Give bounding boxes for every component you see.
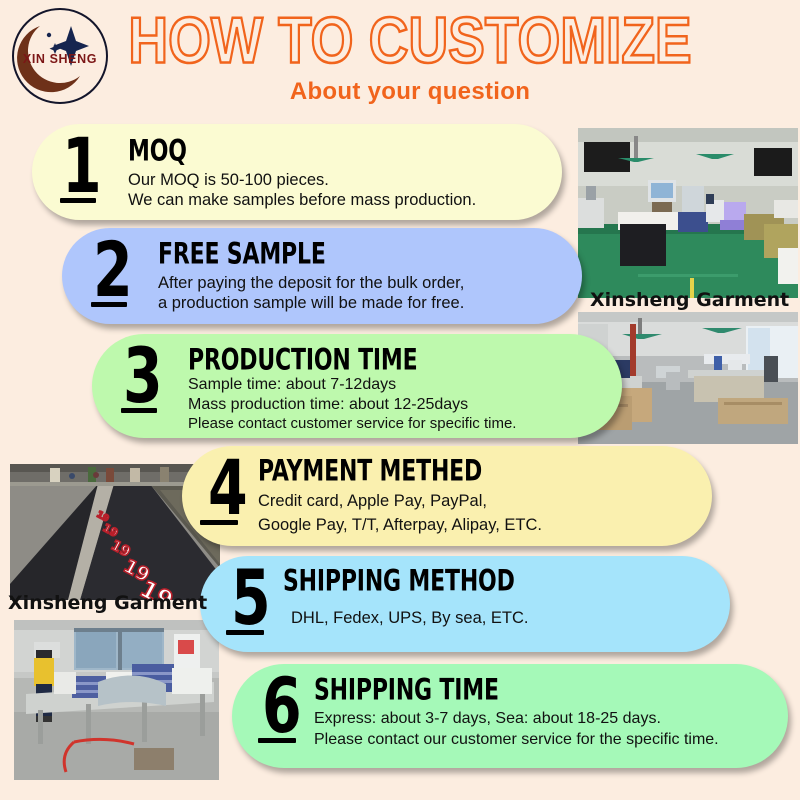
photo-folding-station [14, 620, 219, 780]
step-body-1: Our MOQ is 50-100 pieces. We can make sa… [128, 170, 476, 210]
brand-logo: XIN SHENG [12, 8, 108, 104]
step-title-1: MOQ [128, 136, 187, 165]
step-body-line: Our MOQ is 50-100 pieces. [128, 170, 476, 190]
page-title-text: HOW TO CUSTOMIZE [128, 5, 691, 76]
step-number-underline-5 [226, 630, 264, 635]
step-title-2: FREE SAMPLE [158, 239, 326, 268]
step-body-line: Please contact our customer service for … [314, 729, 719, 750]
step-body-line: After paying the deposit for the bulk or… [158, 273, 464, 293]
step-body-line: Sample time: about 7-12days [188, 375, 516, 395]
photo-caption-sewing-floor: Xinsheng Garment [590, 289, 789, 311]
step-title-3: PRODUCTION TIME [188, 345, 417, 374]
step-number-6: 6 [262, 671, 302, 742]
step-number-underline-2 [91, 302, 127, 307]
step-number-2: 2 [93, 235, 133, 306]
step-body-line: Express: about 3-7 days, Sea: about 18-2… [314, 708, 719, 729]
step-number-4: 4 [208, 453, 248, 524]
logo-text: XIN SHENG [14, 52, 106, 66]
step-number-1: 1 [62, 131, 102, 202]
photo-factory-sewing-floor [578, 128, 798, 298]
step-body-6: Express: about 3-7 days, Sea: about 18-2… [314, 708, 719, 750]
step-body-line: Please contact customer service for spec… [188, 414, 516, 434]
step-body-line: Mass production time: about 12-25days [188, 395, 516, 415]
page-subtitle: About your question [150, 78, 670, 106]
step-body-2: After paying the deposit for the bulk or… [158, 273, 464, 313]
step-number-3: 3 [123, 341, 163, 412]
infographic-canvas: XIN SHENG HOW TO CUSTOMIZE About your qu… [0, 0, 800, 800]
step-body-line: a production sample will be made for fre… [158, 293, 464, 313]
step-number-underline-6 [258, 738, 296, 743]
step-body-line: Google Pay, T/T, Afterpay, Alipay, ETC. [258, 513, 542, 537]
small-star-dot-icon [47, 33, 51, 37]
step-body-line: Credit card, Apple Pay, PayPal, [258, 489, 542, 513]
step-number-underline-1 [60, 198, 96, 203]
step-number-5: 5 [231, 563, 271, 634]
step-number-underline-4 [200, 520, 238, 525]
step-body-line: DHL, Fedex, UPS, By sea, ETC. [291, 608, 529, 628]
step-body-3: Sample time: about 7-12days Mass product… [188, 375, 516, 434]
step-title-5: SHIPPING METHOD [283, 566, 515, 595]
page-title: HOW TO CUSTOMIZE [150, 8, 670, 72]
step-body-5: DHL, Fedex, UPS, By sea, ETC. [291, 608, 529, 628]
step-body-line: We can make samples before mass producti… [128, 190, 476, 210]
step-body-4: Credit card, Apple Pay, PayPal, Google P… [258, 489, 542, 537]
step-title-4: PAYMENT METHED [258, 456, 482, 485]
step-number-underline-3 [121, 408, 157, 413]
step-title-6: SHIPPING TIME [314, 675, 499, 704]
photo-caption-cutting-table: Xinsheng Garment [8, 592, 207, 614]
